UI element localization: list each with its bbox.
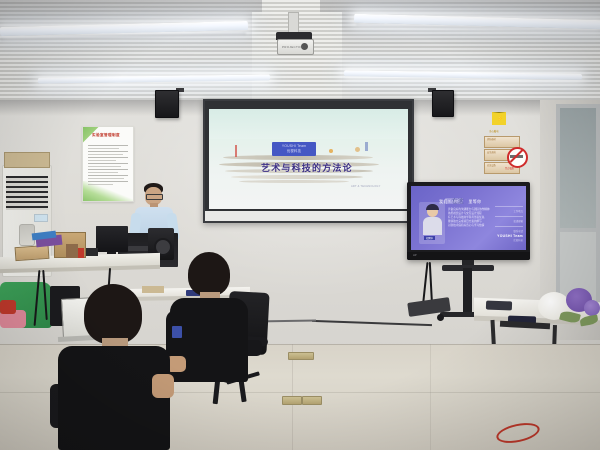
projection-screen-surface: YOUSHI Team 优视科技 艺术与科技的方法论 ART & TECHNOL… <box>209 109 408 209</box>
ac-vent-louvers <box>6 176 48 210</box>
desktop-monitor <box>96 226 128 252</box>
hazard-bolt-icon: ⚡ <box>497 117 503 122</box>
slide-title: 艺术与科技的方法论 <box>261 161 353 174</box>
dark-case-on-table <box>486 301 512 311</box>
wall-speaker-right <box>432 90 454 117</box>
tv-right-label-2: 投递邮箱 <box>495 219 523 223</box>
person-right-head <box>188 252 230 296</box>
tv-brand-sub: 优视科技 <box>495 238 523 242</box>
door-glass-panel <box>560 108 596 228</box>
slide-badge: YOUSHI Team 优视科技 <box>272 142 316 156</box>
slide-accent-red <box>235 145 237 157</box>
projector-brand-label: PROJECTOR <box>282 45 303 49</box>
tv-right-info: 工作地点 投递邮箱 联系电话 <box>495 206 523 233</box>
ceiling-projector: PROJECTOR <box>277 39 314 55</box>
lecture-room-photo: PROJECTOR 实验室管理制度 <box>0 0 600 450</box>
floor-power-outlet-3 <box>302 396 322 405</box>
box-on-ac <box>4 152 50 168</box>
tv-headline-suffix: 里等你 <box>468 199 481 204</box>
tv-bullet-list: 具备良好的沟通能力与团队协作精神 熟悉视觉设计与交互设计流程 有艺术与科技跨学科… <box>448 208 493 227</box>
no-smoking-sign <box>507 147 528 168</box>
poster-body-text <box>88 142 128 194</box>
seated-person-right <box>166 252 270 382</box>
seated-person-left <box>56 284 176 450</box>
tv-avatar-body <box>423 217 442 235</box>
tv-logo: HP <box>413 254 417 257</box>
tv-avatar-hair <box>426 204 439 210</box>
person-left-torso <box>58 346 170 450</box>
tv-subline: 加入我们 <box>445 198 463 204</box>
no-smoking-label: 禁止吸烟 <box>505 166 514 170</box>
electrical-hazard-sign: ⚡ <box>491 112 509 128</box>
tv-right-label-1: 工作地点 <box>495 209 523 213</box>
slide-sky-band <box>209 109 408 139</box>
presenter-glasses <box>146 194 163 200</box>
tv-right-label-3: 联系电话 <box>495 229 523 233</box>
slide-wave-5 <box>239 180 349 183</box>
tv-brand-block: YOUSHI Team 优视科技 <box>495 234 523 242</box>
cabinet-row-label-1: 消防器材 <box>485 137 519 141</box>
slide-subtitle: ART & TECHNOLOGY <box>351 185 381 188</box>
tv-avatar-tag: 招聘中 <box>424 236 435 240</box>
red-object <box>0 300 16 314</box>
tv-stand-caster-left <box>437 314 444 321</box>
wall-speaker-left <box>155 90 179 118</box>
person-left-hand <box>152 374 174 398</box>
projection-screen[interactable]: YOUSHI Team 优视科技 艺术与科技的方法论 ART & TECHNOL… <box>203 99 414 223</box>
wall-tv-monitor[interactable]: 我们 在这 里等你 加入我们 招聘中 具备良好的沟通能力与团队协作精神 熟悉视觉… <box>407 182 530 260</box>
tv-stand-pole <box>463 268 472 314</box>
floor-power-outlet-1 <box>288 352 314 360</box>
tv-bullet-5: 对新技术保持好奇心与学习热情 <box>448 224 493 228</box>
monitor-base <box>86 248 98 256</box>
tv-bezel: HP <box>407 252 530 260</box>
cardboard-box-2 <box>15 245 50 261</box>
desk-red-item <box>78 248 84 258</box>
slide-wave-4 <box>231 175 363 179</box>
ac-display-panel <box>34 214 48 222</box>
tv-avatar-panel: 招聘中 <box>419 202 445 244</box>
person-left-head <box>84 284 142 344</box>
slide-accent-orange <box>329 149 333 153</box>
hazard-sign-label: 当心触电 <box>489 129 499 133</box>
slide-accent-blue <box>365 142 368 151</box>
poster-title: 实验室管理制度 <box>92 133 120 138</box>
door-frame <box>556 104 600 309</box>
floor-power-outlet-2 <box>282 396 302 405</box>
purple-flower-2 <box>584 300 600 316</box>
wall-poster: 实验室管理制度 <box>82 126 134 202</box>
slide-accent-tan <box>355 147 360 152</box>
floor-grout-vertical-2 <box>430 344 431 450</box>
slide-badge-line2: 优视科技 <box>272 149 316 154</box>
desk-bottle <box>66 244 78 258</box>
tv-screen: 我们 在这 里等你 加入我们 招聘中 具备良好的沟通能力与团队协作精神 熟悉视觉… <box>411 186 526 250</box>
screen-bottom-casing <box>205 211 412 221</box>
